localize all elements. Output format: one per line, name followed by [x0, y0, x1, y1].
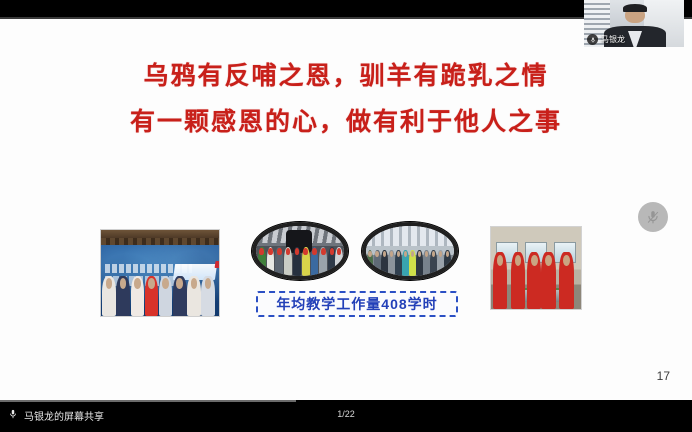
- oval-photo-campus-group: [362, 222, 458, 280]
- workshop-people: [491, 252, 581, 309]
- status-bar-divider: [0, 400, 296, 402]
- banner-people: [101, 276, 219, 316]
- thumbnail-name-badge: 马银龙: [587, 34, 625, 45]
- slide-photo-row: 年均教学工作量408学时: [0, 204, 692, 334]
- zoom-screen-share-window: 乌鸦有反哺之恩，驯羊有跪乳之情 有一颗感恩的心，做有利于他人之事: [0, 0, 692, 432]
- banner-group-photo: [100, 229, 220, 317]
- slide-page-number: 17: [657, 369, 670, 383]
- callout-text: 年均教学工作量408学时: [276, 294, 437, 314]
- oval-photo-hardhats-people: [256, 247, 344, 276]
- banner-ceiling: [101, 230, 219, 245]
- headline-line-2: 有一颗感恩的心，做有利于他人之事: [0, 99, 692, 145]
- thumbnail-participant-name: 马银龙: [601, 34, 625, 45]
- microphone-icon: [587, 34, 598, 45]
- microphone-muted-icon[interactable]: [638, 202, 668, 232]
- callout-teaching-workload: 年均教学工作量408学时: [256, 291, 458, 317]
- thumbnail-person-hair: [623, 4, 647, 12]
- oval-photo-campus-people: [366, 250, 454, 276]
- workshop-training-photo: [490, 226, 582, 310]
- page-indicator: 1/22: [0, 409, 692, 419]
- oval-photo-hardhats: [252, 222, 348, 280]
- headline-line-1: 乌鸦有反哺之恩，驯羊有跪乳之情: [0, 53, 692, 99]
- bottom-status-bar: 马银龙的屏幕共享 1/22: [0, 400, 692, 432]
- self-view-video-thumbnail[interactable]: 马银龙: [584, 0, 684, 47]
- shared-slide: 乌鸦有反哺之恩，驯羊有跪乳之情 有一颗感恩的心，做有利于他人之事: [0, 19, 692, 400]
